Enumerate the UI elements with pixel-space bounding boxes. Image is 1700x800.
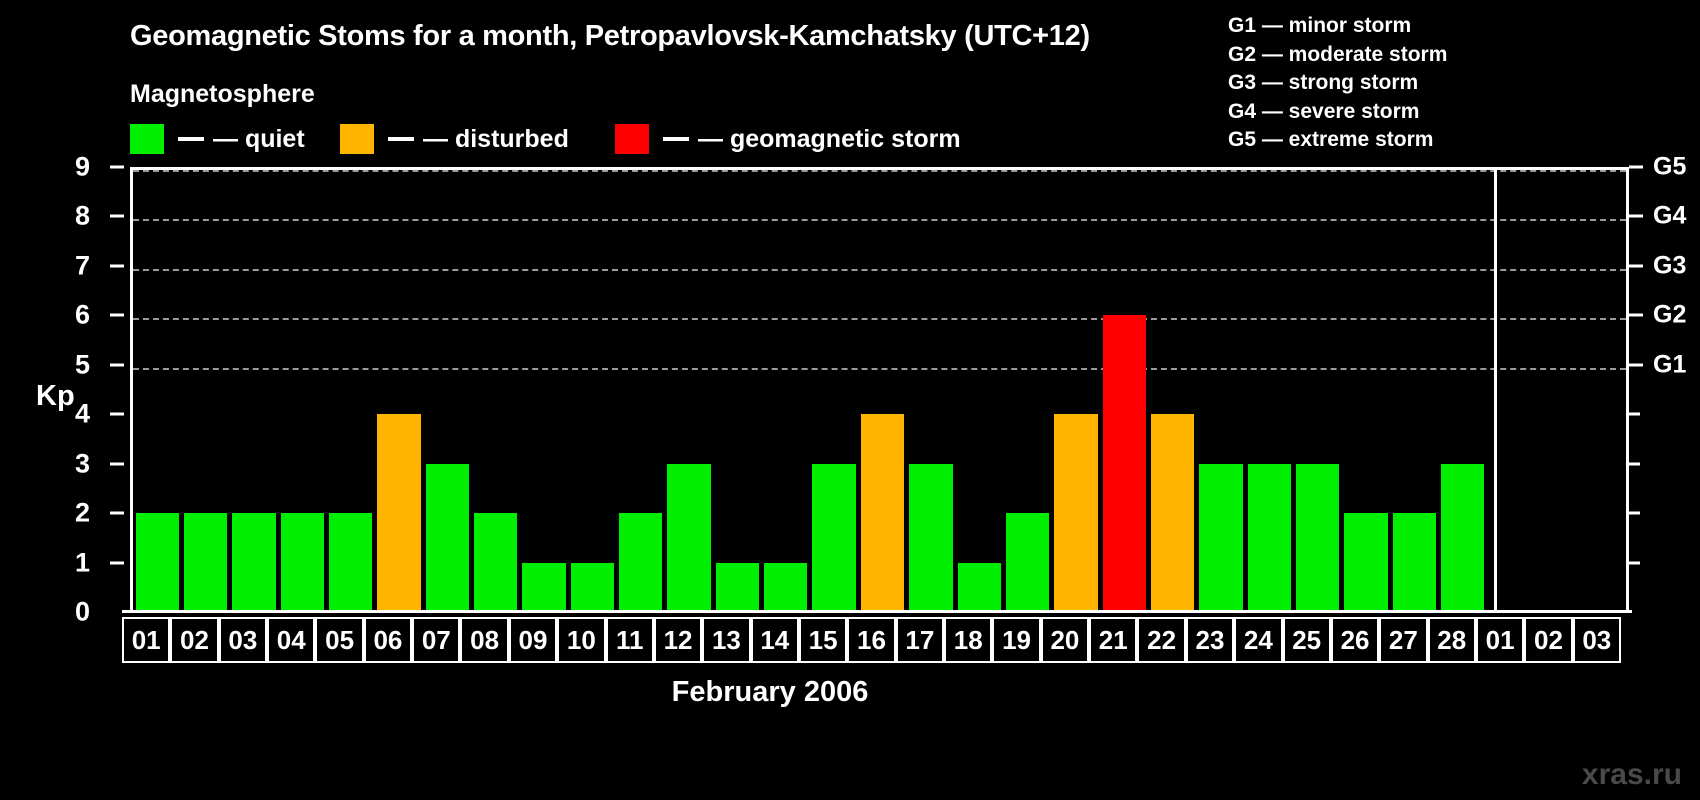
y-tick-mark-6: [110, 314, 124, 317]
date-label-19-18: 19: [992, 617, 1040, 663]
bar-day-04: [281, 513, 324, 612]
y-tick-label-2: 2: [75, 498, 90, 529]
date-label-02-1: 02: [170, 617, 218, 663]
date-label-13-12: 13: [702, 617, 750, 663]
bar-day-03: [232, 513, 275, 612]
x-axis-title-text: February 2006: [672, 676, 869, 708]
chart-header: Geomagnetic Stoms for a month, Petropavl…: [0, 0, 1700, 165]
date-label-10-9: 10: [557, 617, 605, 663]
date-label-14-13: 14: [751, 617, 799, 663]
g-tick-label-g2: G2: [1653, 301, 1686, 330]
g-scale-legend: G1 — minor storm G2 — moderate storm G3 …: [1228, 12, 1447, 155]
y-tick-mark-9: [110, 166, 124, 169]
x-axis-title: February 2006: [0, 676, 1700, 709]
g-tick-mark-kp-8: [1629, 215, 1643, 218]
date-label-02-29: 02: [1524, 617, 1572, 663]
g-tick-mark-kp-6: [1629, 314, 1643, 317]
y-tick-label-8: 8: [75, 201, 90, 232]
date-label-21-20: 21: [1089, 617, 1137, 663]
date-label-25-24: 25: [1283, 617, 1331, 663]
bar-day-27: [1393, 513, 1436, 612]
bar-day-05: [329, 513, 372, 612]
bar-day-20: [1054, 414, 1097, 612]
bar-day-18: [958, 563, 1001, 612]
x-axis-baseline: [122, 610, 1632, 613]
bar-day-01: [136, 513, 179, 612]
g-tick-label-g1: G1: [1653, 350, 1686, 379]
bar-day-24: [1248, 464, 1291, 612]
y-tick-label-0: 0: [75, 597, 90, 628]
legend-dash-icon: [388, 137, 414, 141]
bar-day-25: [1296, 464, 1339, 612]
y-tick-label-7: 7: [75, 250, 90, 281]
watermark: xras.ru: [1582, 758, 1682, 792]
bar-day-26: [1344, 513, 1387, 612]
date-label-11-10: 11: [606, 617, 654, 663]
date-label-06-5: 06: [364, 617, 412, 663]
date-label-03-2: 03: [219, 617, 267, 663]
y-tick-label-1: 1: [75, 547, 90, 578]
date-label-15-14: 15: [799, 617, 847, 663]
g-tick-mark-kp-9: [1629, 166, 1643, 169]
bar-day-02: [184, 513, 227, 612]
date-label-01-0: 01: [122, 617, 170, 663]
bar-day-17: [909, 464, 952, 612]
g-scale-item-g1: G1 — minor storm: [1228, 12, 1447, 41]
legend-swatch-disturbed-icon: [340, 124, 374, 154]
bar-day-09: [522, 563, 565, 612]
legend-swatch-quiet-icon: [130, 124, 164, 154]
legend-dash-icon: [663, 137, 689, 141]
legend-entry-quiet: — quiet: [130, 122, 305, 156]
g-tick-mark-kp-3: [1629, 462, 1640, 465]
g-tick-mark-kp-1: [1629, 561, 1640, 564]
date-label-28-27: 28: [1428, 617, 1476, 663]
y-tick-label-4: 4: [75, 399, 90, 430]
legend-label-storm: — geomagnetic storm: [698, 125, 961, 154]
date-label-23-22: 23: [1186, 617, 1234, 663]
bar-day-13: [716, 563, 759, 612]
bar-day-06: [377, 414, 420, 612]
legend-swatch-storm-icon: [615, 124, 649, 154]
y-tick-mark-1: [110, 561, 124, 564]
legend-entry-disturbed: — disturbed: [340, 122, 569, 156]
bar-day-14: [764, 563, 807, 612]
date-label-26-25: 26: [1331, 617, 1379, 663]
g-tick-label-g3: G3: [1653, 251, 1686, 280]
y-tick-mark-4: [110, 413, 124, 416]
y-tick-label-6: 6: [75, 300, 90, 331]
bar-day-22: [1151, 414, 1194, 612]
bar-day-21: [1103, 315, 1146, 612]
y-tick-label-9: 9: [75, 152, 90, 183]
date-axis: 0102030405060708091011121314151617181920…: [122, 617, 1631, 663]
date-label-17-16: 17: [896, 617, 944, 663]
date-label-18-17: 18: [944, 617, 992, 663]
g-tick-mark-kp-5: [1629, 363, 1643, 366]
g-tick-label-g5: G5: [1653, 153, 1686, 182]
g-tick-mark-kp-4: [1629, 413, 1640, 416]
g-tick-mark-kp-2: [1629, 512, 1640, 515]
date-label-12-11: 12: [654, 617, 702, 663]
bar-day-15: [812, 464, 855, 612]
month-divider: [1494, 167, 1497, 612]
g-tick-mark-kp-7: [1629, 264, 1643, 267]
date-label-16-15: 16: [847, 617, 895, 663]
y-axis: 0123456789: [0, 167, 122, 612]
date-label-07-6: 07: [412, 617, 460, 663]
date-label-08-7: 08: [460, 617, 508, 663]
plot-area: [130, 167, 1629, 612]
date-label-05-4: 05: [315, 617, 363, 663]
magnetosphere-heading: Magnetosphere: [130, 80, 315, 109]
y-tick-mark-7: [110, 264, 124, 267]
bar-day-11: [619, 513, 662, 612]
g-scale-item-g2: G2 — moderate storm: [1228, 41, 1447, 70]
legend-entry-storm: — geomagnetic storm: [615, 122, 961, 156]
date-label-03-30: 03: [1573, 617, 1621, 663]
date-label-04-3: 04: [267, 617, 315, 663]
bar-day-12: [667, 464, 710, 612]
plot-inner: [133, 170, 1626, 612]
right-g-axis: G1G2G3G4G5: [1629, 167, 1700, 612]
bar-day-23: [1199, 464, 1242, 612]
legend-dash-icon: [178, 137, 204, 141]
page-title: Geomagnetic Stoms for a month, Petropavl…: [130, 20, 1090, 53]
y-tick-mark-3: [110, 462, 124, 465]
bar-day-08: [474, 513, 517, 612]
y-tick-mark-2: [110, 512, 124, 515]
bar-day-16: [861, 414, 904, 612]
date-label-20-19: 20: [1041, 617, 1089, 663]
g-scale-item-g3: G3 — strong storm: [1228, 69, 1447, 98]
g-scale-item-g5: G5 — extreme storm: [1228, 126, 1447, 155]
bar-day-10: [571, 563, 614, 612]
date-label-09-8: 09: [509, 617, 557, 663]
g-tick-label-g4: G4: [1653, 202, 1686, 231]
bar-day-28: [1441, 464, 1484, 612]
date-label-24-23: 24: [1234, 617, 1282, 663]
y-tick-label-5: 5: [75, 349, 90, 380]
bar-day-19: [1006, 513, 1049, 612]
y-tick-mark-5: [110, 363, 124, 366]
date-label-01-28: 01: [1476, 617, 1524, 663]
g-scale-item-g4: G4 — severe storm: [1228, 98, 1447, 127]
legend-label-quiet: — quiet: [213, 125, 305, 154]
y-tick-mark-8: [110, 215, 124, 218]
bars-layer: [133, 170, 1626, 612]
legend-label-disturbed: — disturbed: [423, 125, 569, 154]
date-label-27-26: 27: [1379, 617, 1427, 663]
date-label-22-21: 22: [1137, 617, 1185, 663]
bar-day-07: [426, 464, 469, 612]
y-tick-label-3: 3: [75, 448, 90, 479]
